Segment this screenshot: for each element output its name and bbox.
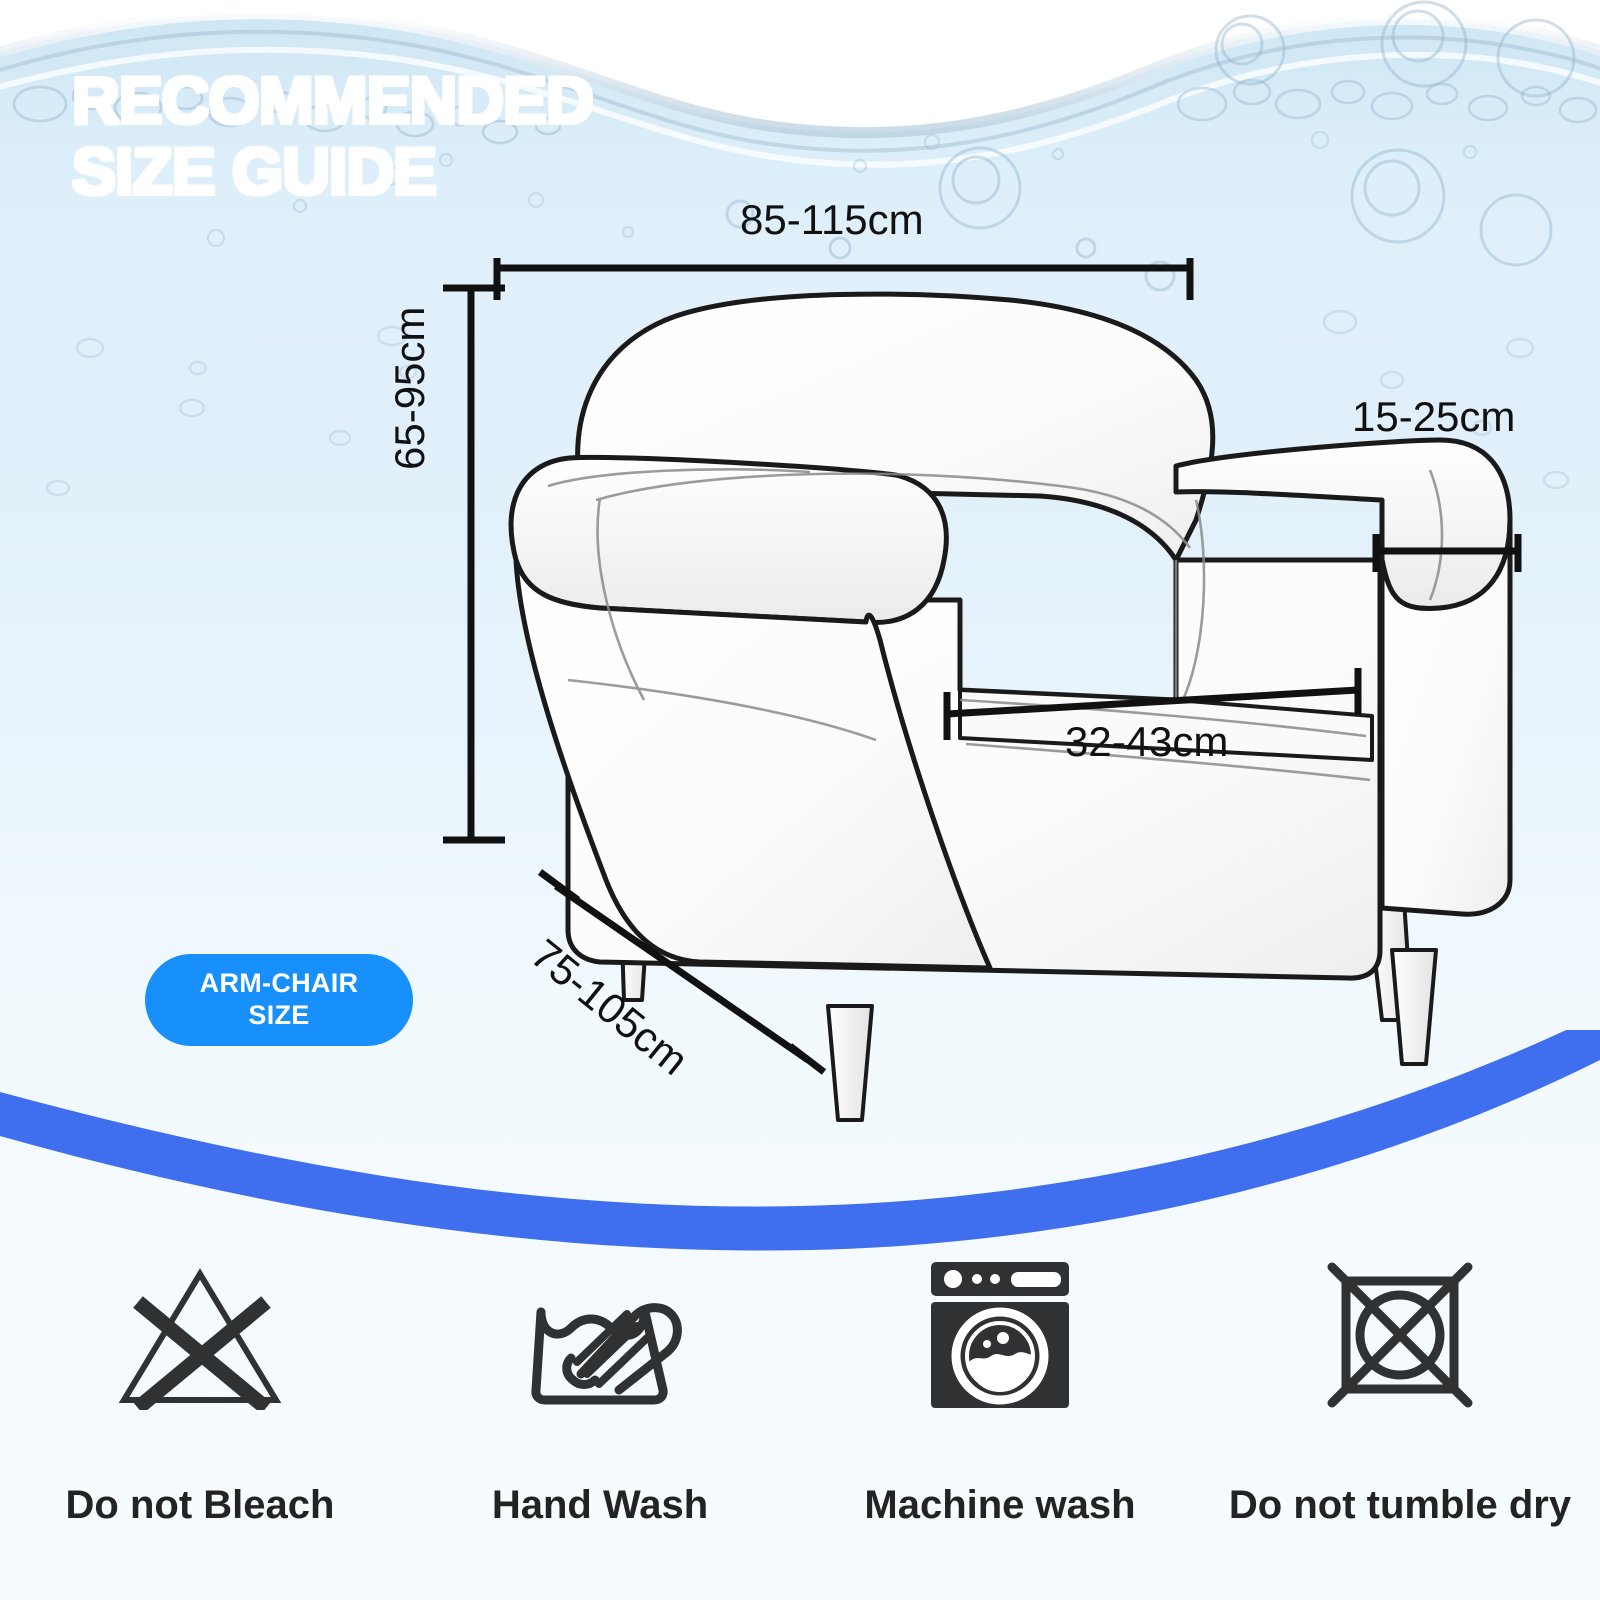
chair-leg-back-right <box>1368 900 1412 1020</box>
do-not-tumble-dry-icon <box>1322 1235 1478 1435</box>
care-item-do-not-bleach: Do not Bleach <box>0 1235 400 1528</box>
chair-arm-right-roll <box>1176 440 1510 608</box>
chair-arm-left-roll <box>511 457 946 622</box>
dimension-label-arm-width: 15-25cm <box>1352 393 1515 441</box>
chair-seat-body <box>568 560 1380 978</box>
dim-cap-depth-bottom <box>790 1046 824 1072</box>
care-label-do-not-bleach: Do not Bleach <box>66 1483 335 1528</box>
dimension-label-width: 85-115cm <box>740 196 924 244</box>
badge-line1: ARM-CHAIR <box>200 968 359 1000</box>
chair-leg-front-right <box>1392 950 1436 1064</box>
dimension-label-height: 65-95cm <box>386 307 434 470</box>
chair-arm-right-side <box>1382 520 1510 914</box>
care-label-hand-wash: Hand Wash <box>492 1483 708 1528</box>
chair-leg-back-left <box>620 880 650 1000</box>
hand-wash-icon <box>515 1235 685 1435</box>
page-title-line2: SIZE GUIDE <box>72 139 593 204</box>
chair-contour-lines <box>548 469 1442 780</box>
page-title: RECOMMENDED SIZE GUIDE <box>72 68 593 203</box>
page-title-line1: RECOMMENDED <box>72 68 593 133</box>
do-not-bleach-icon <box>116 1235 284 1435</box>
dimension-label-depth: 75-105cm <box>522 930 697 1085</box>
chair-backrest <box>578 294 1213 560</box>
care-item-machine-wash: Machine wash <box>800 1235 1200 1528</box>
dim-cap-depth-top <box>540 872 578 900</box>
machine-wash-icon <box>925 1235 1075 1435</box>
chair-leg-front-left <box>828 1006 872 1120</box>
care-instructions-row: Do not Bleach Hand Wash <box>0 1235 1600 1528</box>
chair-arm-left-front <box>516 560 990 968</box>
dimension-label-seat-height: 32-43cm <box>1065 718 1228 766</box>
badge-line2: SIZE <box>248 1000 309 1032</box>
care-label-machine-wash: Machine wash <box>864 1483 1135 1528</box>
blue-wave-decoration <box>0 1030 1600 1260</box>
care-item-hand-wash: Hand Wash <box>400 1235 800 1528</box>
care-label-do-not-tumble-dry: Do not tumble dry <box>1229 1483 1571 1528</box>
arm-chair-size-badge: ARM-CHAIR SIZE <box>145 954 413 1046</box>
care-item-do-not-tumble-dry: Do not tumble dry <box>1200 1235 1600 1528</box>
size-guide-page: RECOMMENDED SIZE GUIDE <box>0 0 1600 1600</box>
dim-line-seat <box>947 690 1358 714</box>
background-bubbles <box>0 280 1600 660</box>
dimension-lines <box>443 258 1518 1072</box>
